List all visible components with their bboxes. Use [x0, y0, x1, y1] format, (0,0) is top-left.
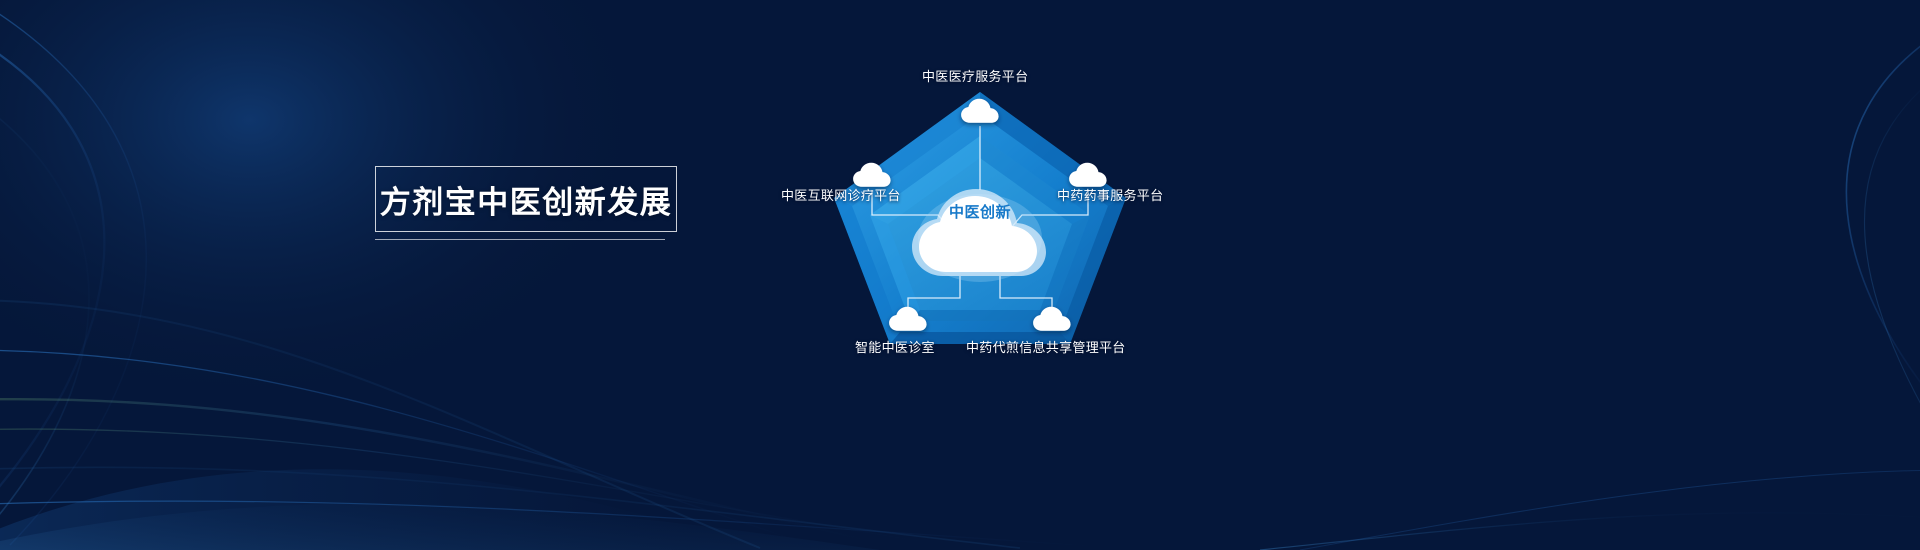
node-label-bottom-left: 智能中医诊室 [855, 337, 935, 356]
page-title: 方剂宝中医创新发展 [380, 177, 673, 222]
hero-banner: 方剂宝中医创新发展 [0, 0, 1920, 550]
pentagon-platform-diagram [760, 40, 1280, 380]
title-underline-divider [375, 239, 665, 240]
center-hub-label: 中医创新 [941, 201, 1019, 222]
node-label-top: 中医医疗服务平台 [922, 66, 1028, 85]
banner-title-box: 方剂宝中医创新发展 [375, 166, 677, 232]
node-label-left: 中医互联网诊疗平台 [781, 185, 901, 204]
node-label-bottom-right: 中药代煎信息共享管理平台 [966, 337, 1126, 356]
node-label-right: 中药药事服务平台 [1057, 185, 1163, 204]
